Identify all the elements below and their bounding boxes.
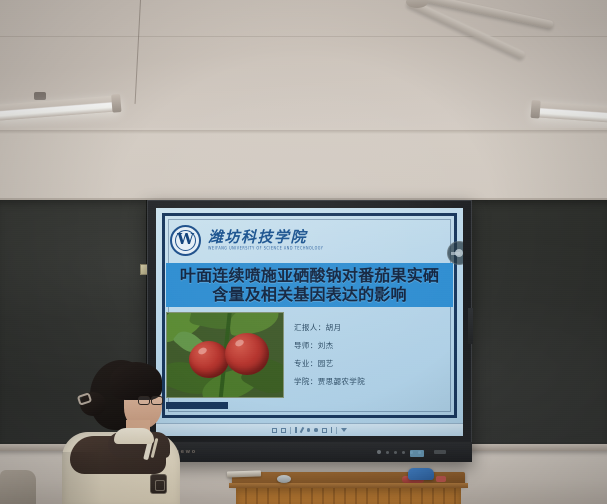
classroom-scene: W 潍坊科技学院 WEIFANG UNIVERSITY OF SCIENCE A…: [0, 0, 607, 504]
tube-cap: [111, 94, 121, 113]
status-led-indicator: [410, 450, 424, 457]
tomato-fruit: [189, 341, 229, 378]
university-name-cn: 潍坊科技学院: [208, 230, 323, 246]
tomato-plant-photo: [166, 312, 284, 398]
university-name-block: 潍坊科技学院 WEIFANG UNIVERSITY OF SCIENCE AND…: [208, 230, 323, 251]
jacket-patch: [150, 474, 167, 494]
slide-title-line-1: 叶面连续喷施亚硒酸钠对番茄果实硒: [180, 267, 439, 285]
tomato-fruit: [225, 333, 269, 375]
menu-button-icon[interactable]: [386, 451, 389, 454]
slide-photo-area: [166, 312, 284, 412]
glasses-lens: [151, 396, 163, 405]
slide-title-band: 叶面连续喷施亚硒酸钠对番茄果实硒 含量及相关基因表达的影响: [166, 263, 453, 307]
jacket-shadow: [62, 452, 102, 504]
info-college: 学院：贾思勰农学院: [294, 376, 453, 387]
pen-icon[interactable]: [299, 427, 304, 433]
undo-icon[interactable]: [314, 428, 318, 432]
cursor-icon[interactable]: [295, 427, 297, 433]
university-logo: W 潍坊科技学院 WEIFANG UNIVERSITY OF SCIENCE A…: [170, 220, 438, 260]
source-button-icon[interactable]: [394, 451, 397, 454]
smart-board-vent: [468, 308, 473, 344]
ir-receiver-icon: [434, 450, 446, 454]
fluorescent-tube-right: [532, 101, 607, 123]
hair-front: [110, 362, 162, 400]
smart-board-bottom-bezel: seewo: [147, 442, 472, 462]
save-icon[interactable]: [272, 428, 277, 433]
ceiling-seam: [0, 36, 607, 37]
fluorescent-tube-left: [0, 95, 120, 121]
tomato-highlight: [197, 346, 208, 355]
smart-board[interactable]: W 潍坊科技学院 WEIFANG UNIVERSITY OF SCIENCE A…: [147, 200, 472, 462]
university-name-en: WEIFANG UNIVERSITY OF SCIENCE AND TECHNO…: [208, 246, 323, 251]
logo-letter: W: [177, 232, 194, 247]
smart-board-screen[interactable]: W 潍坊科技学院 WEIFANG UNIVERSITY OF SCIENCE A…: [156, 208, 463, 436]
ceiling-fan-icon: [332, 0, 492, 30]
leaf: [227, 312, 280, 336]
red-tag-on-podium: [436, 476, 446, 482]
more-icon[interactable]: [341, 428, 347, 432]
redo-icon[interactable]: [322, 428, 327, 433]
eyeglasses-icon: [138, 396, 164, 406]
presenter-info-block: 汇报人：胡月 导师：刘杰 专业：园艺 学院：贾思勰农学院: [294, 312, 453, 412]
round-object-on-podium: [277, 475, 291, 483]
shape-icon[interactable]: [331, 427, 333, 433]
info-advisor: 导师：刘杰: [294, 340, 453, 351]
info-major: 专业：园艺: [294, 358, 453, 369]
blue-bag-on-podium: [408, 468, 434, 480]
info-presenter: 汇报人：胡月: [294, 322, 453, 333]
tube-cap: [530, 100, 540, 119]
book-on-podium: [227, 470, 261, 477]
slide-body: 汇报人：胡月 导师：刘杰 专业：园艺 学院：贾思勰农学院: [166, 312, 453, 412]
jacket-collar: [114, 428, 154, 444]
volume-down-icon[interactable]: [402, 451, 405, 454]
toolbar-divider: [290, 427, 291, 434]
power-button-icon[interactable]: [377, 450, 382, 455]
slide-annotation-toolbar[interactable]: [156, 423, 463, 436]
university-seal-icon: W: [170, 225, 201, 256]
wall-ceiling-shadow: [0, 130, 607, 134]
hanging-wire: [135, 0, 141, 104]
student-presenter: [62, 356, 180, 504]
slide-title-line-2: 含量及相关基因表达的影响: [212, 286, 406, 304]
copy-icon[interactable]: [281, 428, 286, 433]
presentation-slide: W 潍坊科技学院 WEIFANG UNIVERSITY OF SCIENCE A…: [156, 208, 463, 436]
glasses-lens: [138, 396, 150, 405]
ceiling: [0, 0, 607, 132]
toolbar-divider: [336, 427, 337, 434]
tomato-highlight: [234, 338, 245, 347]
eraser-icon[interactable]: [307, 428, 311, 432]
floor-object: [0, 470, 36, 504]
lectern-podium: [232, 472, 465, 504]
podium-panel: [236, 488, 461, 504]
wire-clip: [34, 92, 46, 100]
